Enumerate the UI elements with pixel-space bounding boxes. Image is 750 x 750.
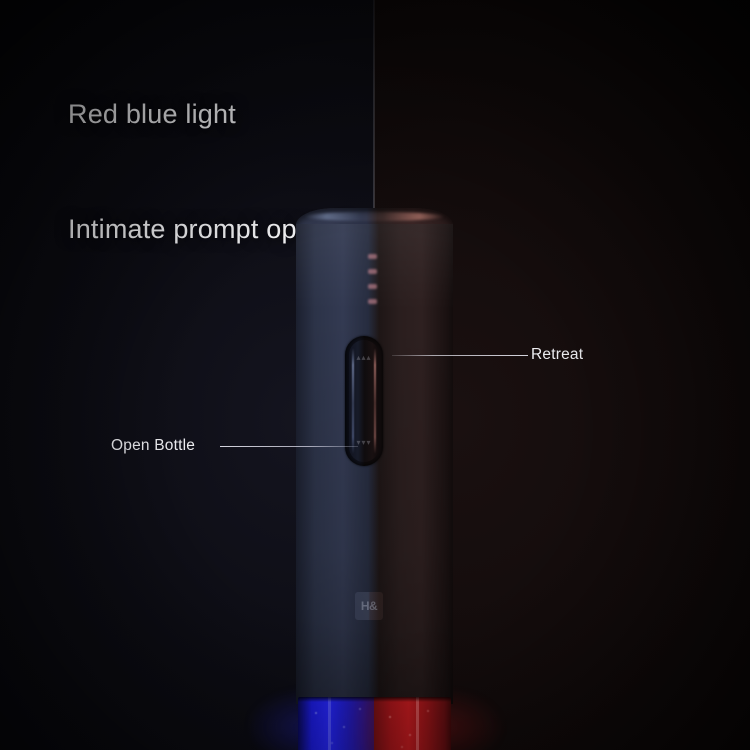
- callout-label-open-bottle: Open Bottle: [111, 437, 195, 455]
- brand-logo: H&: [355, 592, 383, 620]
- base-top-shadow: [298, 697, 451, 702]
- headline-line-1: Red blue light: [68, 95, 381, 133]
- rocker-button[interactable]: ▴▴▴ ▾▾▾: [349, 340, 379, 462]
- up-arrow-icon[interactable]: ▴▴▴: [349, 353, 379, 362]
- led-dot: [368, 284, 377, 289]
- battery-led-indicator: [368, 254, 377, 310]
- product-feature-image: Red blue light Intimate prompt operation…: [0, 0, 750, 750]
- callout-label-retreat: Retreat: [531, 346, 583, 364]
- led-dot: [368, 299, 377, 304]
- callout-leader-line-open-bottle: [220, 446, 358, 447]
- cap-highlight: [304, 212, 445, 221]
- callout-leader-line-retreat: [392, 355, 528, 356]
- base-light-speckles: [298, 697, 451, 750]
- led-dot: [368, 254, 377, 259]
- electric-wine-opener-device: ▴▴▴ ▾▾▾ H&: [296, 208, 453, 750]
- brand-logo-text: H&: [361, 600, 377, 612]
- illuminated-transparent-base: [298, 697, 451, 750]
- led-dot: [368, 269, 377, 274]
